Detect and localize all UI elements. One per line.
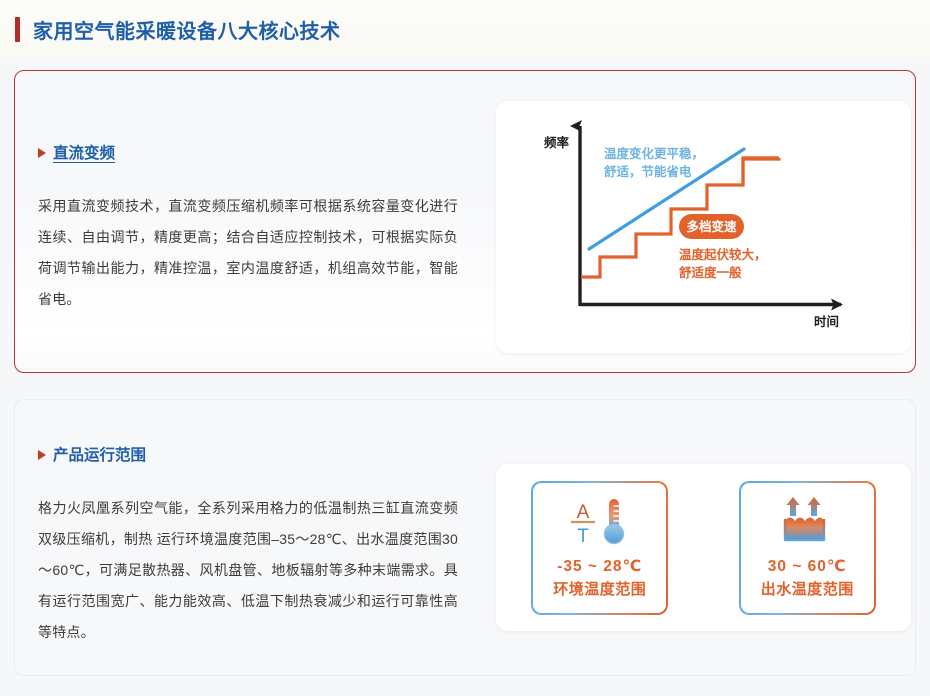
range-tile-caption: 出水温度范围: [761, 578, 854, 601]
section-heading-label: 直流变频: [53, 141, 115, 163]
header-accent-bar: [15, 17, 20, 42]
chart-y-axis-label: 频率: [544, 135, 570, 150]
section-body-operating-range: 格力火凤凰系列空气能，全系列采用格力的低温制热三缸直流变频双级压缩机，制热 运行…: [38, 493, 458, 648]
page-header: 家用空气能采暖设备八大核心技术: [0, 0, 930, 58]
dc-inverter-text-column: 直流变频 采用直流变频技术，直流变频压缩机频率可根据系统容量变化进行连续、自由调…: [38, 141, 458, 315]
chart-annotation-orange-line2: 舒适度一般: [678, 265, 742, 280]
operating-range-panel: A T: [496, 464, 911, 631]
chart-badge-multi-speed-label: 多档变速: [686, 219, 737, 234]
chart-annotation-blue-line2: 舒适，节能省电: [603, 164, 692, 179]
section-heading-dc-inverter: 直流变频: [38, 141, 458, 163]
section-heading-operating-range: 产品运行范围: [38, 443, 458, 465]
range-tile-ambient: A T: [531, 481, 668, 615]
range-tile-value: -35 ~ 28℃: [557, 555, 642, 578]
card-operating-range: 产品运行范围 格力火凤凰系列空气能，全系列采用格力的低温制热三缸直流变频双级压缩…: [14, 399, 916, 676]
svg-text:A: A: [576, 502, 589, 523]
chart-annotation-blue-line1: 温度变化更平稳，: [604, 146, 704, 161]
ambient-temperature-icon: A T: [567, 495, 633, 547]
operating-range-text-column: 产品运行范围 格力火凤凰系列空气能，全系列采用格力的低温制热三缸直流变频双级压缩…: [38, 443, 458, 648]
frequency-time-chart-panel: 频率 时间 温度变化更平稳， 舒适，节能省电 多档变速 温度起伏较大， 舒适度一…: [496, 101, 911, 353]
triangle-right-icon: [38, 450, 46, 460]
water-outlet-temperature-icon: [777, 495, 837, 547]
chart-series-multi-speed-top-segment: [743, 158, 779, 185]
frequency-time-chart: 频率 时间 温度变化更平稳， 舒适，节能省电 多档变速 温度起伏较大， 舒适度一…: [496, 101, 911, 353]
range-tile-caption: 环境温度范围: [553, 578, 646, 601]
triangle-right-icon: [38, 148, 46, 158]
section-heading-label: 产品运行范围: [53, 443, 146, 465]
chart-x-axis-label: 时间: [814, 314, 839, 329]
svg-text:T: T: [577, 526, 589, 546]
range-tile-value: 30 ~ 60℃: [768, 555, 847, 578]
chart-annotation-orange-line1: 温度起伏较大，: [679, 247, 767, 262]
section-body-dc-inverter: 采用直流变频技术，直流变频压缩机频率可根据系统容量变化进行连续、自由调节，精度更…: [38, 191, 458, 315]
card-dc-inverter: 直流变频 采用直流变频技术，直流变频压缩机频率可根据系统容量变化进行连续、自由调…: [14, 70, 916, 373]
range-tile-water-outlet: 30 ~ 60℃ 出水温度范围: [739, 481, 876, 615]
page-title: 家用空气能采暖设备八大核心技术: [33, 15, 341, 44]
